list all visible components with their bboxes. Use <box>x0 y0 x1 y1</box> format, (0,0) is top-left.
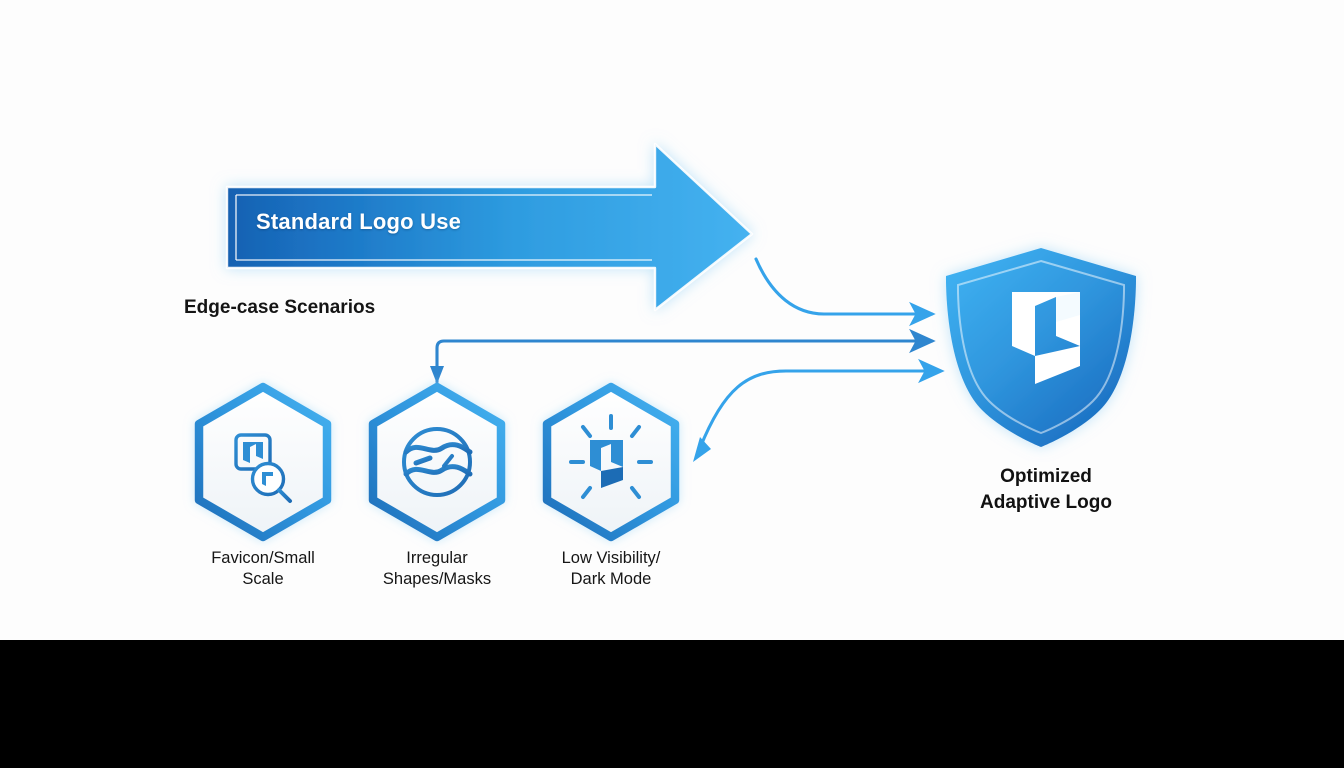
caption-line-2: Dark Mode <box>571 570 652 588</box>
caption-line-2: Shapes/Masks <box>383 570 491 588</box>
caption-line-1: Optimized <box>1000 466 1092 487</box>
edge-case-label-favicon-small-scale: Favicon/Small Scale <box>168 548 358 590</box>
edge-case-card-favicon-small-scale[interactable] <box>199 387 327 537</box>
banner-label: Standard Logo Use <box>256 209 461 235</box>
caption-line-1: Irregular <box>406 549 467 567</box>
edge-case-label-low-visibility-dark-mode: Low Visibility/ Dark Mode <box>516 548 706 590</box>
connector-shield-to-lowvisibility <box>693 371 941 462</box>
caption-line-2: Scale <box>242 570 283 588</box>
optimized-adaptive-logo[interactable] <box>946 248 1136 447</box>
caption-line-1: Favicon/Small <box>211 549 315 567</box>
bottom-letterbox-bar <box>0 640 1344 768</box>
edge-case-card-irregular-shapes-masks[interactable] <box>373 387 501 537</box>
caption-line-2: Adaptive Logo <box>980 492 1112 513</box>
connector-banner-to-shield <box>756 259 932 314</box>
optimized-adaptive-logo-caption: Optimized Adaptive Logo <box>946 464 1146 516</box>
diagram-stage: Standard Logo Use Edge-case Scenarios Fa… <box>0 0 1344 768</box>
connector-edgecases-to-shield <box>430 341 932 384</box>
edge-case-label-irregular-shapes-masks: Irregular Shapes/Masks <box>342 548 532 590</box>
edge-case-heading: Edge-case Scenarios <box>184 297 375 319</box>
edge-case-card-low-visibility-dark-mode[interactable] <box>547 387 675 537</box>
diagram-graphics <box>0 0 1344 640</box>
caption-line-1: Low Visibility/ <box>562 549 661 567</box>
diagram-canvas: Standard Logo Use Edge-case Scenarios Fa… <box>0 0 1344 640</box>
